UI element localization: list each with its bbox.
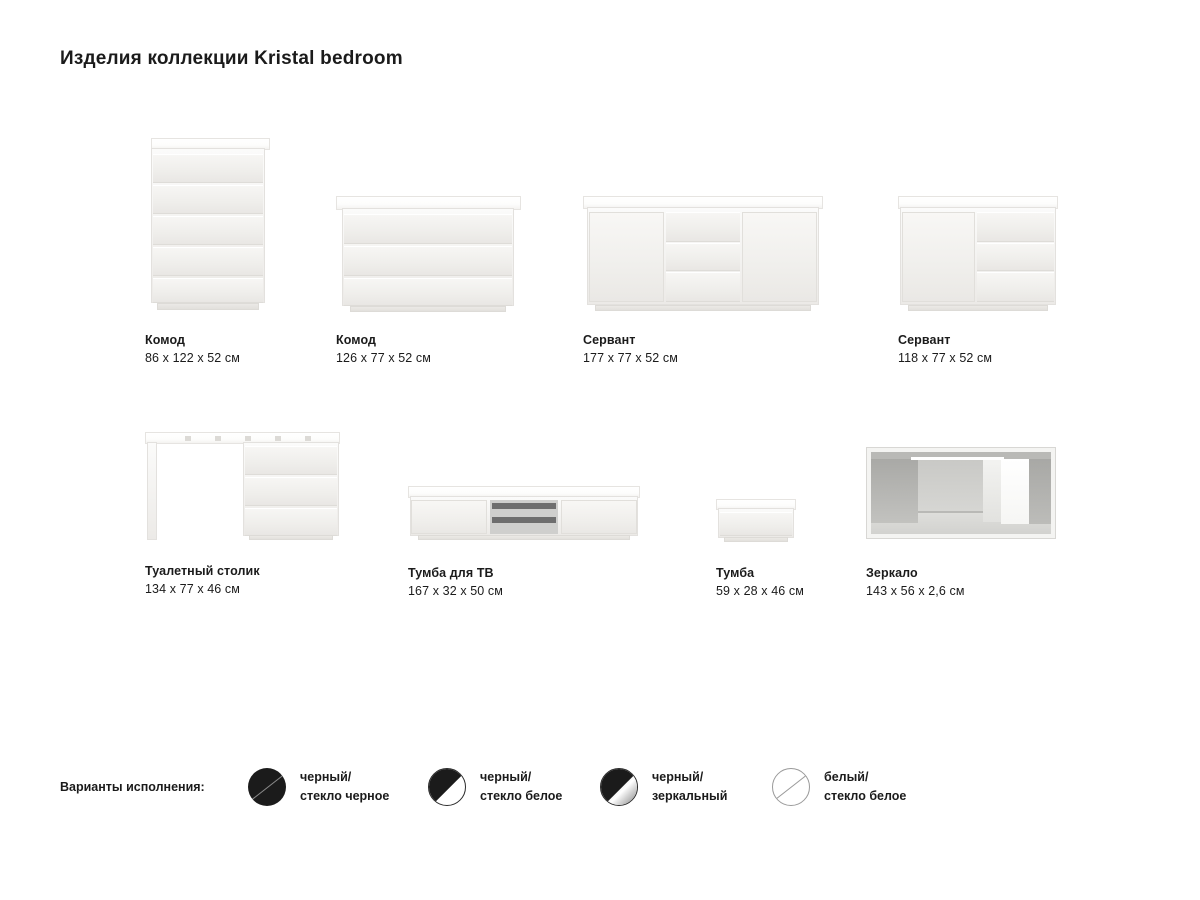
product-tumba[interactable]: Тумба 59 x 28 x 46 см <box>716 499 796 609</box>
drawer-front <box>153 216 263 245</box>
product-servant-177[interactable]: Сервант 177 x 77 x 52 см <box>583 196 823 371</box>
product-name: Комод <box>145 333 240 347</box>
top-edge-detail <box>185 436 191 441</box>
product-illustration-servant-118 <box>898 196 1058 316</box>
product-caption: Тумба 59 x 28 x 46 см <box>716 566 804 598</box>
half-black-icon <box>428 768 466 806</box>
swatch-black-white-glass-icon <box>428 768 466 806</box>
product-dimensions: 59 x 28 x 46 см <box>716 584 804 598</box>
product-servant-118[interactable]: Сервант 118 x 77 x 52 см <box>898 196 1058 371</box>
product-dimensions: 118 x 77 x 52 см <box>898 351 992 365</box>
door-right <box>561 500 637 534</box>
product-illustration-mirror <box>866 447 1056 543</box>
product-dimensions: 143 x 56 x 2,6 см <box>866 584 965 598</box>
variant-line-1: черный/ <box>652 768 727 787</box>
reflection-wall-left <box>871 459 918 523</box>
catalog-page: Изделия коллекции Kristal bedroom Комод … <box>0 0 1200 900</box>
drawer-front <box>153 154 263 183</box>
drawer-front <box>153 185 263 214</box>
product-name: Зеркало <box>866 566 965 580</box>
drawer-front <box>153 278 263 303</box>
drawer-front <box>344 214 512 244</box>
drawer-front <box>153 247 263 276</box>
reflection-pillar <box>983 459 1001 521</box>
product-dimensions: 177 x 77 x 52 см <box>583 351 678 365</box>
product-dimensions: 86 x 122 x 52 см <box>145 351 240 365</box>
product-illustration-tv-unit <box>408 486 640 542</box>
shelf-slot <box>492 503 556 509</box>
product-caption: Комод 86 x 122 x 52 см <box>145 333 240 365</box>
diagonal-divider-icon <box>248 768 286 806</box>
product-dimensions: 167 x 32 x 50 см <box>408 584 503 598</box>
drawer-front <box>977 212 1054 242</box>
door-right <box>742 212 817 302</box>
plinth-base <box>249 535 333 540</box>
variant-line-1: черный/ <box>480 768 562 787</box>
variant-black-white-glass[interactable]: черный/ стекло белое <box>428 768 562 806</box>
variant-line-2: стекло белое <box>480 787 562 806</box>
reflection-wall-back <box>918 460 983 511</box>
variant-line-2: стекло черное <box>300 787 389 806</box>
drawer-front <box>245 508 337 536</box>
drawer-front <box>666 272 740 302</box>
drawer-front <box>344 246 512 276</box>
door-left <box>589 212 664 302</box>
door-left <box>411 500 487 534</box>
product-komod-126[interactable]: Комод 126 x 77 x 52 см <box>336 196 521 371</box>
product-illustration-komod-86 <box>145 138 270 313</box>
plinth-base <box>350 306 506 312</box>
product-name: Тумба <box>716 566 804 580</box>
product-caption: Туалетный столик 134 x 77 x 46 см <box>145 564 260 596</box>
product-name: Тумба для ТВ <box>408 566 503 580</box>
drawer-front <box>666 212 740 242</box>
mirror-glass <box>871 452 1051 534</box>
plinth-base <box>908 305 1048 311</box>
drawer-front <box>720 512 792 536</box>
product-caption: Тумба для ТВ 167 x 32 x 50 см <box>408 566 503 598</box>
product-name: Сервант <box>898 333 992 347</box>
diagonal-divider-icon <box>772 769 810 805</box>
variant-label: черный/ зеркальный <box>652 768 727 806</box>
variant-line-1: черный/ <box>300 768 389 787</box>
top-edge-detail <box>305 436 311 441</box>
drawer-front <box>977 243 1054 271</box>
page-title: Изделия коллекции Kristal bedroom <box>60 48 403 70</box>
product-illustration-tumba <box>716 499 796 543</box>
swatch-black-black-glass-icon <box>248 768 286 806</box>
product-tumba-dlya-tv[interactable]: Тумба для ТВ 167 x 32 x 50 см <box>408 486 640 606</box>
product-illustration-komod-126 <box>336 196 521 316</box>
variants-legend: Варианты исполнения: черный/ стекло черн… <box>60 780 205 794</box>
product-dimensions: 134 x 77 x 46 см <box>145 582 260 596</box>
door-left <box>902 212 975 302</box>
product-caption: Сервант 177 x 77 x 52 см <box>583 333 678 365</box>
variant-label: черный/ стекло белое <box>480 768 562 806</box>
reflection-doorway <box>1001 459 1030 525</box>
variant-line-2: зеркальный <box>652 787 727 806</box>
variant-label: черный/ стекло черное <box>300 768 389 806</box>
drawer-front <box>245 446 337 475</box>
variant-line-2: стекло белое <box>824 787 906 806</box>
variant-black-black-glass[interactable]: черный/ стекло черное <box>248 768 389 806</box>
swatch-white-white-glass-icon <box>772 768 810 806</box>
plinth-base <box>157 303 259 310</box>
product-caption: Зеркало 143 x 56 x 2,6 см <box>866 566 965 598</box>
product-tualetnyj-stolik[interactable]: Туалетный столик 134 x 77 x 46 см <box>145 432 340 607</box>
variants-legend-label: Варианты исполнения: <box>60 780 205 794</box>
product-caption: Сервант 118 x 77 x 52 см <box>898 333 992 365</box>
plinth-base <box>595 305 811 311</box>
plinth-base <box>418 535 630 540</box>
variant-label: белый/ стекло белое <box>824 768 906 806</box>
variant-black-mirror[interactable]: черный/ зеркальный <box>600 768 727 806</box>
reflection-ceiling <box>911 457 1005 460</box>
product-illustration-vanity <box>145 432 340 542</box>
drawer-front <box>245 477 337 506</box>
product-komod-86[interactable]: Комод 86 x 122 x 52 см <box>145 138 270 368</box>
drawer-front <box>344 278 512 306</box>
top-edge-detail <box>275 436 281 441</box>
plinth-base <box>724 537 788 542</box>
variant-line-1: белый/ <box>824 768 906 787</box>
drawer-front <box>666 243 740 271</box>
top-edge-detail <box>245 436 251 441</box>
product-caption: Комод 126 x 77 x 52 см <box>336 333 431 365</box>
swatch-black-mirror-icon <box>600 768 638 806</box>
product-name: Комод <box>336 333 431 347</box>
product-dimensions: 126 x 77 x 52 см <box>336 351 431 365</box>
mirror-frame <box>866 447 1056 539</box>
shelf-slot <box>492 517 556 523</box>
product-name: Туалетный столик <box>145 564 260 578</box>
drawer-front <box>977 272 1054 302</box>
top-edge-detail <box>215 436 221 441</box>
reflection-wall-right <box>1029 459 1051 525</box>
left-leg <box>147 442 157 540</box>
variant-white-white-glass[interactable]: белый/ стекло белое <box>772 768 906 806</box>
product-name: Сервант <box>583 333 678 347</box>
product-zerkalo[interactable]: Зеркало 143 x 56 x 2,6 см <box>866 447 1056 607</box>
product-illustration-servant-177 <box>583 196 823 316</box>
